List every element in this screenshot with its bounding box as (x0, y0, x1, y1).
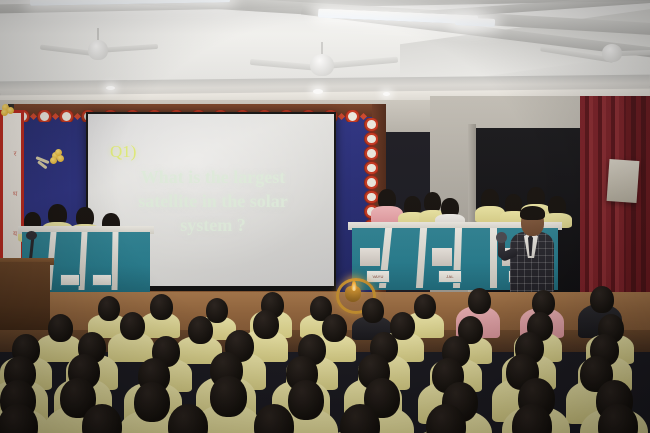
team-placard-jal: JAL (438, 270, 462, 283)
banner-text-2: थ (5, 183, 25, 207)
question-number: Q1) (110, 142, 136, 162)
lamp-flame-icon (351, 280, 357, 291)
audience-row (0, 404, 650, 433)
question-line-2: satellite in the solar (98, 190, 328, 214)
spot-light-icon (313, 89, 323, 94)
team-placard-vayu: VAYU (366, 270, 390, 283)
tube-light-icon (455, 17, 495, 27)
ceiling-fan-icon (250, 46, 400, 76)
ceiling-fan-icon (540, 38, 650, 68)
team-placard (92, 274, 112, 286)
podium-microphone-icon (26, 231, 37, 240)
auditorium-scene: र थ य Q1) What is the largest satellite … (0, 0, 650, 433)
team-placard (60, 274, 80, 286)
banner-text-1: र (5, 143, 25, 167)
ceiling-fan-icon (40, 34, 160, 68)
spot-light-icon (106, 86, 115, 90)
quizmaster-hair (520, 206, 545, 220)
spot-light-icon (383, 92, 390, 96)
question-line-1: What is the largest (98, 166, 328, 190)
wall-speaker-icon (607, 159, 640, 203)
microphone-head-icon (496, 232, 507, 243)
